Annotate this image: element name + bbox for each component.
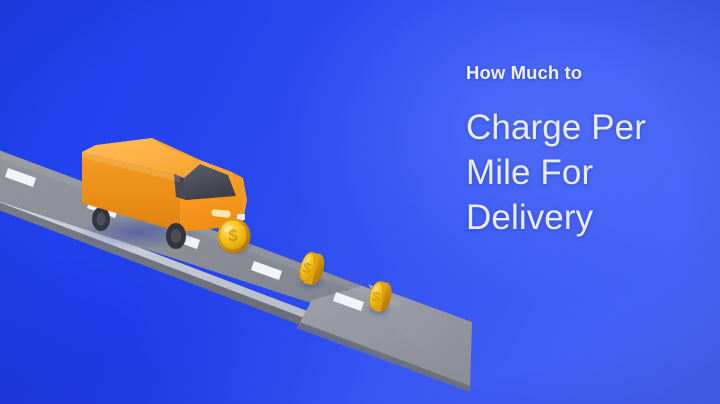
headline-block: How Much to Charge Per Mile For Delivery [466,64,712,240]
promo-banner: $ $ [0,0,720,404]
headline-line-1: Charge Per [466,105,712,150]
gold-coin-1: $ [218,219,255,257]
headline-line-3: Delivery [466,195,712,240]
eyebrow-text: How Much to [466,64,712,83]
headline-line-2: Mile For [466,150,712,195]
van-front-wheel [166,223,186,249]
van-rear-wheel [92,207,110,231]
page-title: Charge Per Mile For Delivery [466,105,712,240]
gold-coin-2: $ [296,250,327,291]
